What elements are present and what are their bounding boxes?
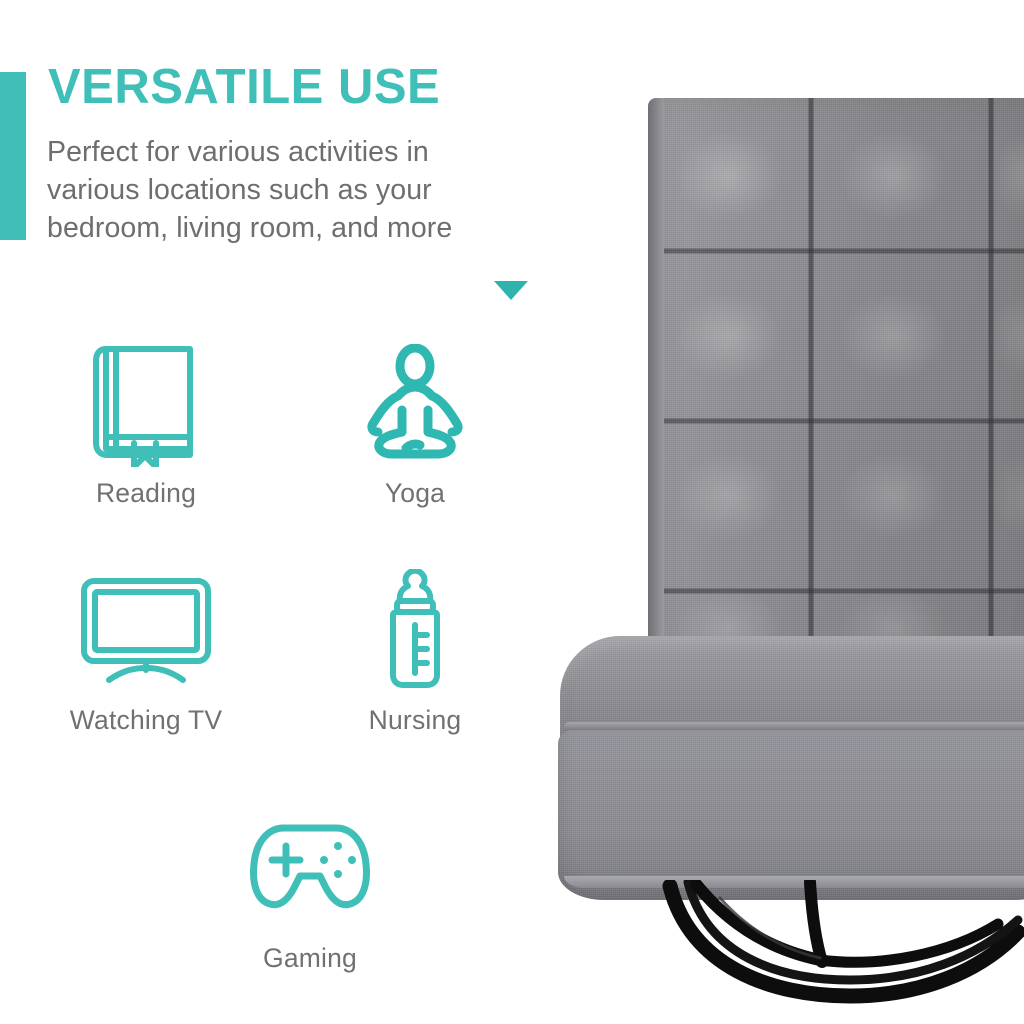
baby-bottle-icon [315,565,515,695]
meditation-icon [315,338,515,468]
game-controller-icon [210,803,410,933]
feature-item-reading: Reading [46,338,246,509]
skirt-fabric-texture [558,730,1024,900]
rocker-base [520,880,1024,1024]
page-subtitle: Perfect for various activities in variou… [47,133,517,247]
feature-item-yoga: Yoga [315,338,515,509]
feature-label-gaming: Gaming [210,943,410,974]
feature-label-nursing: Nursing [315,705,515,736]
feature-item-tv: Watching TV [46,565,246,736]
product-image-rocking-chair [520,0,1024,1024]
marketing-infographic: VERSATILE USE Perfect for various activi… [0,0,1024,1024]
chair-backrest [648,98,1024,668]
feature-label-tv: Watching TV [46,705,246,736]
fabric-texture [648,98,1024,668]
book-icon [46,338,246,468]
feature-item-nursing: Nursing [315,565,515,736]
page-title: VERSATILE USE [48,62,440,113]
television-icon [46,565,246,695]
accent-bar [0,72,26,240]
feature-label-yoga: Yoga [315,478,515,509]
feature-item-gaming: Gaming [210,803,410,974]
backrest-left-edge [648,98,664,668]
chair-skirt [558,730,1024,900]
feature-label-reading: Reading [46,478,246,509]
